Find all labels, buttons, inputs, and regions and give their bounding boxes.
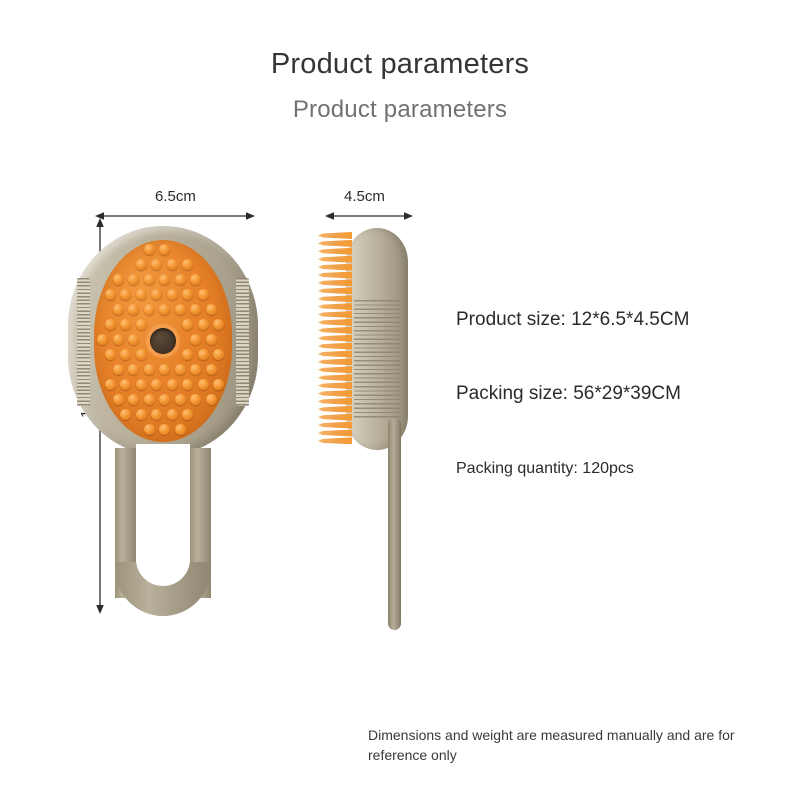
pad-nub — [190, 364, 201, 375]
bristle — [318, 287, 352, 294]
bristle — [318, 272, 352, 279]
pad-nub — [151, 289, 162, 300]
pad-nub — [151, 379, 162, 390]
pad-nub — [198, 379, 209, 390]
pad-nub — [175, 424, 186, 435]
pad-nub — [128, 304, 139, 315]
pad-nub — [190, 334, 201, 345]
pad-nub — [198, 289, 209, 300]
bristle — [318, 279, 352, 286]
pad-nub — [190, 394, 201, 405]
pad-nub — [105, 379, 116, 390]
bristle — [318, 264, 352, 271]
page-subtitle: Product parameters — [0, 96, 800, 124]
spec-packing-size: Packing size: 56*29*39CM — [456, 383, 681, 405]
pad-nub — [136, 409, 147, 420]
comb-teeth-left — [77, 278, 90, 406]
side-bristles — [318, 232, 352, 444]
pad-nub — [113, 364, 124, 375]
bristle — [318, 358, 352, 365]
pad-nub — [159, 304, 170, 315]
pad-nub — [182, 379, 193, 390]
pad-nub — [159, 424, 170, 435]
bristle — [318, 382, 352, 389]
pad-nub — [167, 409, 178, 420]
pad-nub — [105, 349, 116, 360]
side-handle-bar — [388, 418, 401, 630]
bristle — [318, 374, 352, 381]
pad-nub — [144, 364, 155, 375]
bristle — [318, 319, 352, 326]
pad-nub — [175, 304, 186, 315]
pad-nub — [136, 259, 147, 270]
dimension-label-front-width: 6.5cm — [155, 188, 196, 205]
bristle — [318, 390, 352, 397]
dimension-label-side-width: 4.5cm — [344, 188, 385, 205]
pad-nub — [120, 289, 131, 300]
pad-nub — [120, 349, 131, 360]
pad-nub — [144, 424, 155, 435]
pad-nub — [198, 349, 209, 360]
bristle — [318, 335, 352, 342]
pad-nub — [151, 259, 162, 270]
spec-product-size: Product size: 12*6.5*4.5CM — [456, 309, 689, 331]
pad-nub — [136, 319, 147, 330]
pad-nub — [159, 274, 170, 285]
pad-nub — [128, 334, 139, 345]
pad-nub — [105, 319, 116, 330]
bristle — [318, 430, 352, 437]
pad-nub — [136, 289, 147, 300]
pad-nub — [206, 304, 217, 315]
pad-nub — [113, 334, 124, 345]
handle-inner-cutout — [136, 444, 190, 586]
bristle — [318, 303, 352, 310]
bristle — [318, 406, 352, 413]
pad-nub — [128, 274, 139, 285]
bristle — [318, 422, 352, 429]
pad-nub — [144, 304, 155, 315]
pad-nub — [159, 244, 170, 255]
pad-nub — [159, 364, 170, 375]
product-parameters-page: Product parameters Product parameters 6.… — [0, 0, 800, 800]
pad-nub — [213, 379, 224, 390]
pad-nub — [182, 259, 193, 270]
pad-nub — [97, 334, 108, 345]
pad-nub — [206, 364, 217, 375]
pad-nub — [213, 349, 224, 360]
product-side-view — [302, 228, 432, 628]
brush-head-shell — [68, 226, 258, 456]
pad-nub — [175, 364, 186, 375]
pad-nub — [167, 379, 178, 390]
bristle — [318, 240, 352, 247]
pad-nub — [167, 259, 178, 270]
pad-nub — [136, 379, 147, 390]
bristle — [318, 232, 352, 239]
loop-handle — [115, 448, 211, 616]
bristle — [318, 256, 352, 263]
pad-nub — [206, 334, 217, 345]
pad-nub — [136, 349, 147, 360]
pad-nub — [190, 274, 201, 285]
bristle — [318, 343, 352, 350]
pad-nub — [120, 379, 131, 390]
pad-nub — [175, 274, 186, 285]
footer-disclaimer: Dimensions and weight are measured manua… — [368, 725, 778, 766]
pad-nub — [144, 394, 155, 405]
pad-nub — [213, 319, 224, 330]
pad-nub — [182, 409, 193, 420]
spec-packing-quantity: Packing quantity: 120pcs — [456, 460, 634, 478]
pad-nub — [167, 289, 178, 300]
bristle — [318, 327, 352, 334]
dimension-arrow-front-width — [95, 210, 255, 222]
bristle — [318, 366, 352, 373]
pad-nub — [105, 289, 116, 300]
pad-nub — [159, 394, 170, 405]
comb-teeth-right — [236, 278, 249, 406]
bristle — [318, 248, 352, 255]
bristle — [318, 437, 352, 444]
pad-nub — [113, 304, 124, 315]
pad-nub — [182, 349, 193, 360]
pad-nub — [113, 274, 124, 285]
pad-nub — [120, 409, 131, 420]
bristle — [318, 351, 352, 358]
product-front-view — [68, 226, 258, 616]
bristle — [318, 295, 352, 302]
page-title: Product parameters — [0, 48, 800, 81]
bristle — [318, 311, 352, 318]
pad-nub — [190, 304, 201, 315]
pad-nub — [182, 289, 193, 300]
pad-nub — [128, 394, 139, 405]
center-hole — [150, 328, 176, 354]
side-comb-ridges — [354, 300, 400, 420]
pad-nub — [144, 244, 155, 255]
pad-nub — [198, 319, 209, 330]
pad-nub — [175, 394, 186, 405]
pad-nub — [113, 394, 124, 405]
silicone-nub-pad — [94, 240, 232, 442]
dimension-arrow-side-width — [325, 210, 413, 222]
pad-nub — [120, 319, 131, 330]
bristle — [318, 414, 352, 421]
pad-nub — [182, 319, 193, 330]
bristle — [318, 398, 352, 405]
pad-nub — [151, 409, 162, 420]
pad-nub — [144, 274, 155, 285]
pad-nub — [206, 394, 217, 405]
pad-nub — [128, 364, 139, 375]
